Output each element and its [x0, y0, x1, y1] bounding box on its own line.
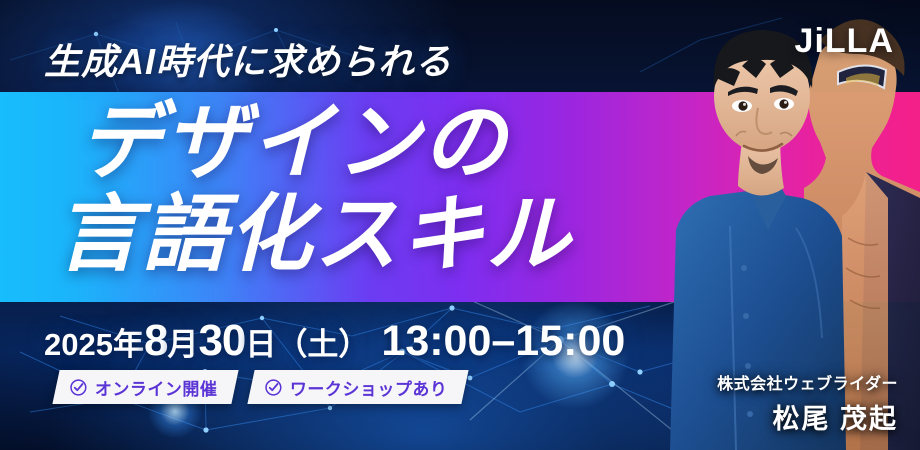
- speaker-name: 松尾 茂起: [717, 397, 898, 436]
- check-circle-icon: [264, 378, 283, 397]
- title-line-2: 言語化スキル: [56, 192, 572, 276]
- date-month-number: 8: [144, 316, 167, 366]
- badge-online-event: オンライン開催: [52, 370, 238, 404]
- seminar-promo-banner: 生成AI時代に求められる デザインの 言語化スキル 2025年 8 月 30 日…: [0, 0, 920, 450]
- speaker-company: 株式会社ウェブライダー: [717, 370, 898, 394]
- date-day-unit: 日（土）: [245, 319, 369, 364]
- date-month-unit: 月: [167, 319, 198, 364]
- badge-label: オンライン開催: [95, 375, 218, 400]
- event-datetime: 2025年 8 月 30 日（土） 13:00–15:00: [44, 316, 625, 366]
- jilla-logo: JiLLA: [795, 22, 894, 61]
- check-circle-icon: [69, 378, 88, 397]
- badge-workshop-included: ワークショップあり: [247, 370, 468, 404]
- event-time: 13:00–15:00: [381, 317, 625, 366]
- badge-label: ワークショップあり: [290, 375, 448, 400]
- date-day-number: 30: [198, 316, 245, 366]
- date-year: 2025年: [44, 319, 144, 364]
- kicker-headline: 生成AI時代に求められる: [44, 33, 452, 85]
- speaker-credit: 株式会社ウェブライダー 松尾 茂起: [717, 370, 898, 436]
- feature-badges: オンライン開催 ワークショップあり: [56, 370, 464, 404]
- main-title: デザインの 言語化スキル: [0, 92, 700, 302]
- title-line-1: デザインの: [78, 100, 508, 184]
